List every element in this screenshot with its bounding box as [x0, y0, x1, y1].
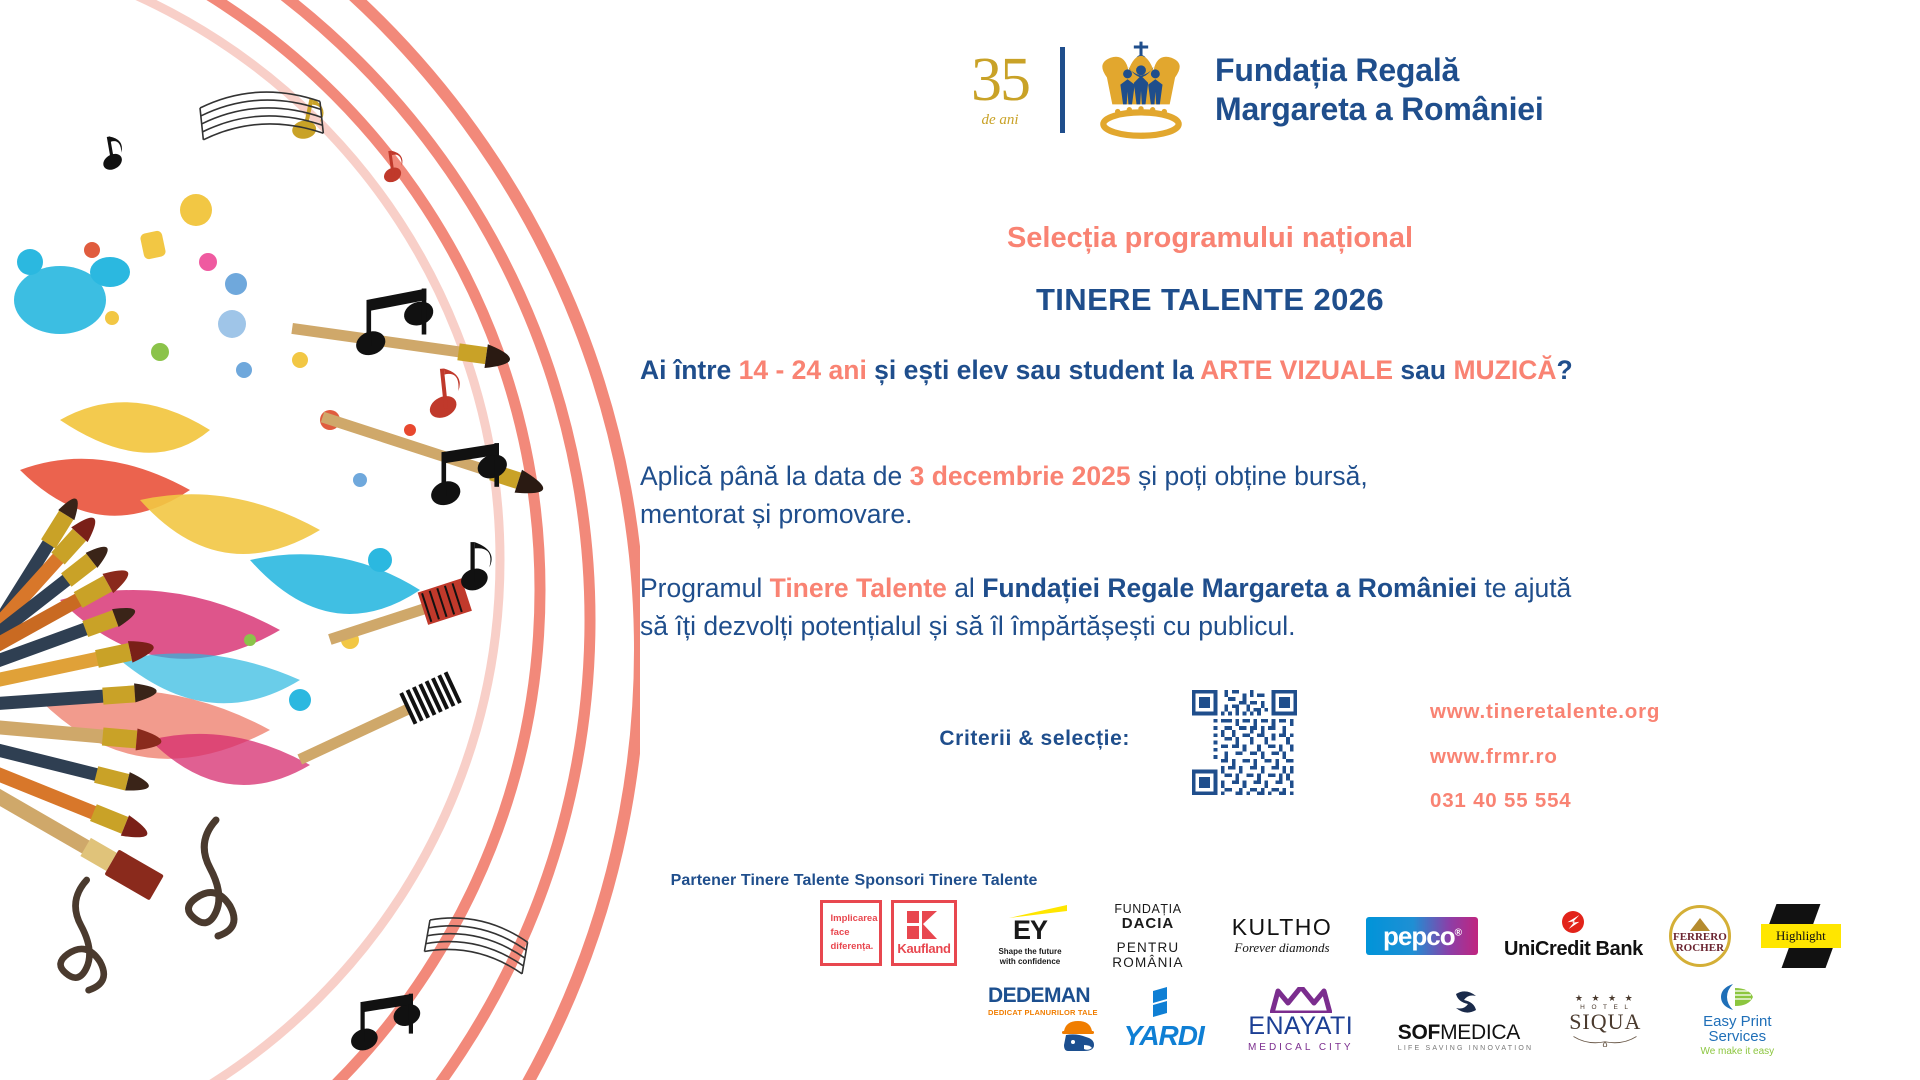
website-tineretalente[interactable]: www.tineretalente.org: [1430, 690, 1660, 735]
sponsor-row-1: EY Shape the future with confidence FUND…: [988, 902, 1845, 970]
eps-tagline: We make it easy: [1700, 1046, 1774, 1057]
enayati-wordmark: ENAYATI: [1248, 1014, 1353, 1039]
unicredit-wordmark: UniCredit Bank: [1504, 938, 1643, 961]
kultho-wordmark: KULTHO: [1232, 916, 1333, 939]
ey-wordmark: EY: [1013, 917, 1047, 944]
sponsor-logo-easy-print-services: Easy Print Services We make it easy: [1677, 982, 1797, 1057]
kaufland-slogan-logo: Implicarea face diferența.: [820, 900, 882, 966]
pepco-registered-mark: ®: [1455, 927, 1461, 938]
organization-name: Fundației Regale Margareta a României: [982, 573, 1477, 603]
eligibility-paragraph: Ai între 14 - 24 ani și ești elev sau st…: [640, 352, 1910, 390]
p1-text-a: Ai între: [640, 355, 739, 385]
p3-text-a: Programul: [640, 573, 770, 603]
sponsor-logo-yardi: YARDI: [1124, 987, 1204, 1052]
p3-text-c: te ajută: [1477, 573, 1571, 603]
age-range: 14 - 24 ani: [739, 355, 867, 385]
kaufland-slogan-line1: Implicarea: [831, 912, 878, 926]
kaufland-logo: Kaufland: [891, 900, 957, 966]
deadline-date: 3 decembrie 2025: [910, 461, 1131, 491]
sponsor-row-2: DEDEMAN DEDICAT PLANURILOR TALE YARDI: [988, 982, 1797, 1057]
sponsor-logo-ferrero-rocher: FERRERO ROCHER: [1669, 905, 1731, 967]
siqua-stars: ★ ★ ★ ★: [1575, 993, 1636, 1004]
yardi-mark-icon: [1153, 987, 1175, 1017]
deadline-line1: Aplică până la data de 3 decembrie 2025 …: [640, 458, 1910, 496]
siqua-ornament-icon: [1565, 1033, 1645, 1047]
enayati-tagline: MEDICAL CITY: [1248, 1042, 1354, 1053]
eps-mark-icon: [1719, 982, 1755, 1012]
eps-wordmark: Easy Print Services: [1677, 1014, 1797, 1044]
unicredit-mark-icon: [1562, 911, 1584, 933]
siqua-wordmark: SIQUA: [1569, 1011, 1641, 1033]
dedeman-tagline: DEDICAT PLANURILOR TALE: [988, 1008, 1098, 1017]
ferrero-pyramid-icon: [1690, 918, 1710, 931]
sponsor-logo-fundatia-dacia: FUNDAȚIA DACIA PENTRU ROMÂNIA: [1098, 902, 1198, 970]
p1-text-d: ?: [1556, 355, 1572, 385]
dedeman-dog-icon: [1058, 1019, 1098, 1053]
ey-tagline-line2: with confidence: [998, 957, 1061, 967]
highlight-wordmark: Highlight: [1776, 928, 1826, 944]
sponsors-heading: Sponsori Tinere Talente: [726, 872, 1166, 890]
yardi-wordmark: YARDI: [1124, 1020, 1204, 1052]
sponsor-logo-highlight: Highlight: [1757, 904, 1845, 968]
dedeman-wordmark: DEDEMAN: [988, 985, 1098, 1006]
ey-tagline-line1: Shape the future: [998, 947, 1061, 957]
field-arte-vizuale: ARTE VIZUALE: [1200, 355, 1393, 385]
sofmedica-tagline: LIFE SAVING INNOVATION: [1398, 1045, 1534, 1052]
deadline-line2: mentorat și promovare.: [640, 496, 1910, 534]
sponsor-logo-hotel-siqua: ★ ★ ★ ★ H O T E L SIQUA: [1559, 993, 1651, 1047]
kaufland-slogan-line3: diferența.: [831, 940, 878, 954]
sponsor-logo-enayati: ENAYATI MEDICAL CITY: [1230, 987, 1372, 1053]
p3-text-b: al: [947, 573, 982, 603]
sponsor-logo-unicredit: UniCredit Bank: [1504, 911, 1643, 961]
p2-text-a: Aplică până la data de: [640, 461, 910, 491]
partner-logos: Implicarea face diferența. Kaufland: [820, 900, 957, 966]
sponsor-logo-ey: EY Shape the future with confidence: [988, 905, 1072, 967]
main-content: Selecția programului național TINERE TAL…: [640, 0, 1920, 1080]
dacia-line3: PENTRU: [1117, 940, 1180, 955]
qr-code-icon[interactable]: [1192, 690, 1297, 795]
coral-arc-rings: [0, 0, 640, 1080]
page-title: TINERE TALENTE 2026: [640, 282, 1780, 318]
criterii-label: Criterii & selecție:: [640, 727, 1130, 751]
phone-number[interactable]: 031 40 55 554: [1430, 779, 1660, 824]
contact-links: www.tineretalente.org www.frmr.ro 031 40…: [1430, 690, 1660, 824]
dacia-line2: DACIA: [1122, 916, 1175, 933]
p1-text-c: sau: [1393, 355, 1453, 385]
dacia-line4: ROMÂNIA: [1112, 955, 1183, 970]
sponsors-section: Partener Tinere Talente Sponsori Tinere …: [640, 872, 1920, 1080]
contact-section: Criterii & selecție:: [640, 690, 1920, 820]
sofmedica-mark-icon: [1452, 988, 1480, 1016]
kicker-text: Selecția programului național: [640, 222, 1780, 255]
sponsor-logo-dedeman: DEDEMAN DEDICAT PLANURILOR TALE: [988, 985, 1098, 1055]
program-description-paragraph: Programul Tinere Talente al Fundației Re…: [640, 570, 1910, 645]
kaufland-slogan-line2: face: [831, 926, 878, 940]
field-muzica: MUZICĂ: [1453, 355, 1556, 385]
kaufland-k-icon: [907, 911, 941, 939]
program-line1: Programul Tinere Talente al Fundației Re…: [640, 570, 1910, 608]
p2-text-b: și poți obține bursă,: [1131, 461, 1368, 491]
eligibility-line: Ai între 14 - 24 ani și ești elev sau st…: [640, 352, 1910, 390]
sponsor-logo-sofmedica: SOFMEDICA LIFE SAVING INNOVATION: [1398, 988, 1534, 1052]
kaufland-wordmark: Kaufland: [897, 941, 950, 956]
program-line2: să îți dezvolți potențialul și să îl împ…: [640, 608, 1910, 646]
program-name: Tinere Talente: [770, 573, 947, 603]
p1-text-b: și ești elev sau student la: [867, 355, 1200, 385]
ferrero-line2: ROCHER: [1676, 943, 1724, 954]
artwork-svg: [0, 0, 640, 1080]
sponsor-logo-kultho: KULTHO Forever diamonds: [1224, 916, 1340, 956]
sponsor-logo-pepco: pepco®: [1366, 917, 1478, 955]
kultho-tagline: Forever diamonds: [1234, 940, 1329, 956]
dacia-line1: FUNDAȚIA: [1114, 902, 1181, 916]
pepco-wordmark: pepco: [1383, 921, 1455, 951]
decorative-artwork-panel: [0, 0, 640, 1080]
enayati-crown-icon: [1270, 987, 1332, 1013]
sofmedica-wordmark-light: MEDICA: [1440, 1021, 1520, 1044]
deadline-paragraph: Aplică până la data de 3 decembrie 2025 …: [640, 458, 1910, 533]
website-frmr[interactable]: www.frmr.ro: [1430, 735, 1660, 780]
sofmedica-wordmark-bold: SOF: [1398, 1021, 1440, 1044]
